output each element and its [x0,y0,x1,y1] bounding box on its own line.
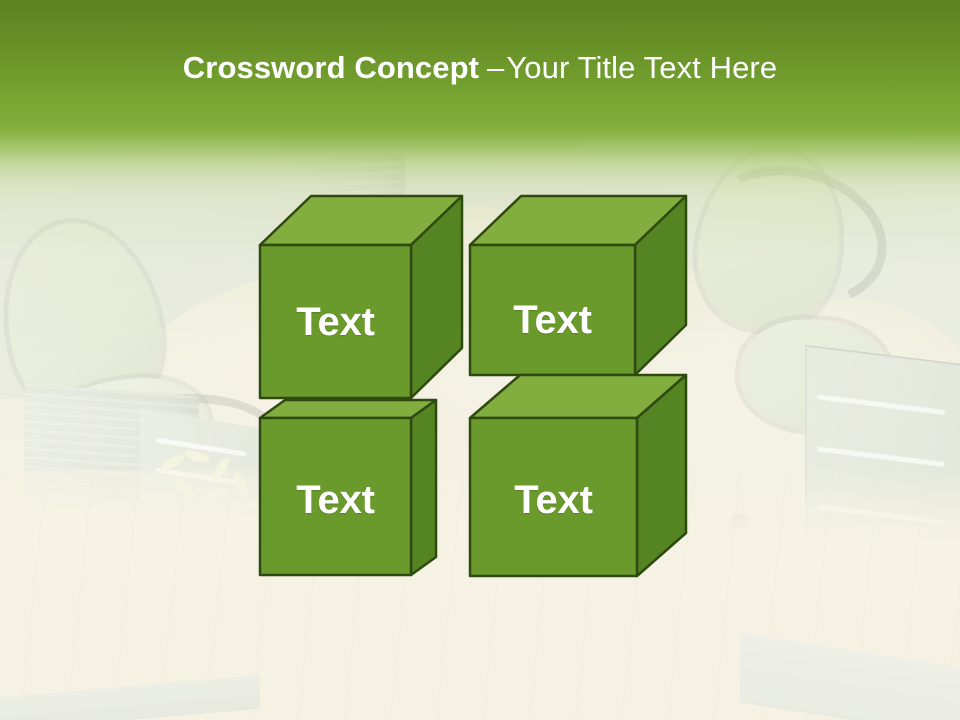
crossword-concept-diagram: Text Text Text [0,0,960,720]
cube-bottom-right-front-face [470,418,637,576]
slide-canvas: Crossword Concept–Your Title Text Here T… [0,0,960,720]
cube-bottom-right[interactable]: Text [0,0,960,720]
